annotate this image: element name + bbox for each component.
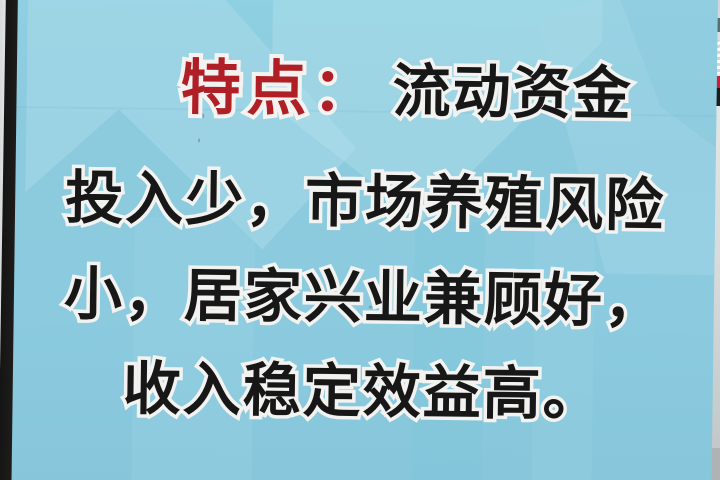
sign-line-4-body: 收入稳定效益高。: [122, 359, 603, 423]
sign-text-line-2: 投入少，市场养殖风险: [15, 168, 718, 235]
sign-text-block: 特点：流动资金 投入少，市场养殖风险 小，居家兴业兼顾好， 收入稳定效益高。: [11, 0, 718, 480]
sign-panel: 特点：流动资金 投入少，市场养殖风险 小，居家兴业兼顾好， 收入稳定效益高。: [11, 0, 718, 480]
sign-line-2-body: 投入少，市场养殖风险: [65, 169, 666, 235]
sign-text-line-1: 特点：流动资金: [16, 56, 718, 126]
feature-highlight-text: 特点：: [180, 58, 379, 121]
sign-text-line-3: 小，居家兴业兼顾好，: [14, 264, 718, 331]
sign-line-1-body: 流动资金: [392, 62, 633, 123]
sign-text-line-4: 收入稳定效益高。: [12, 358, 718, 427]
sign-line-3-body: 小，居家兴业兼顾好，: [64, 265, 665, 331]
photo-canvas: 特点：流动资金 投入少，市场养殖风险 小，居家兴业兼顾好， 收入稳定效益高。: [0, 0, 720, 480]
